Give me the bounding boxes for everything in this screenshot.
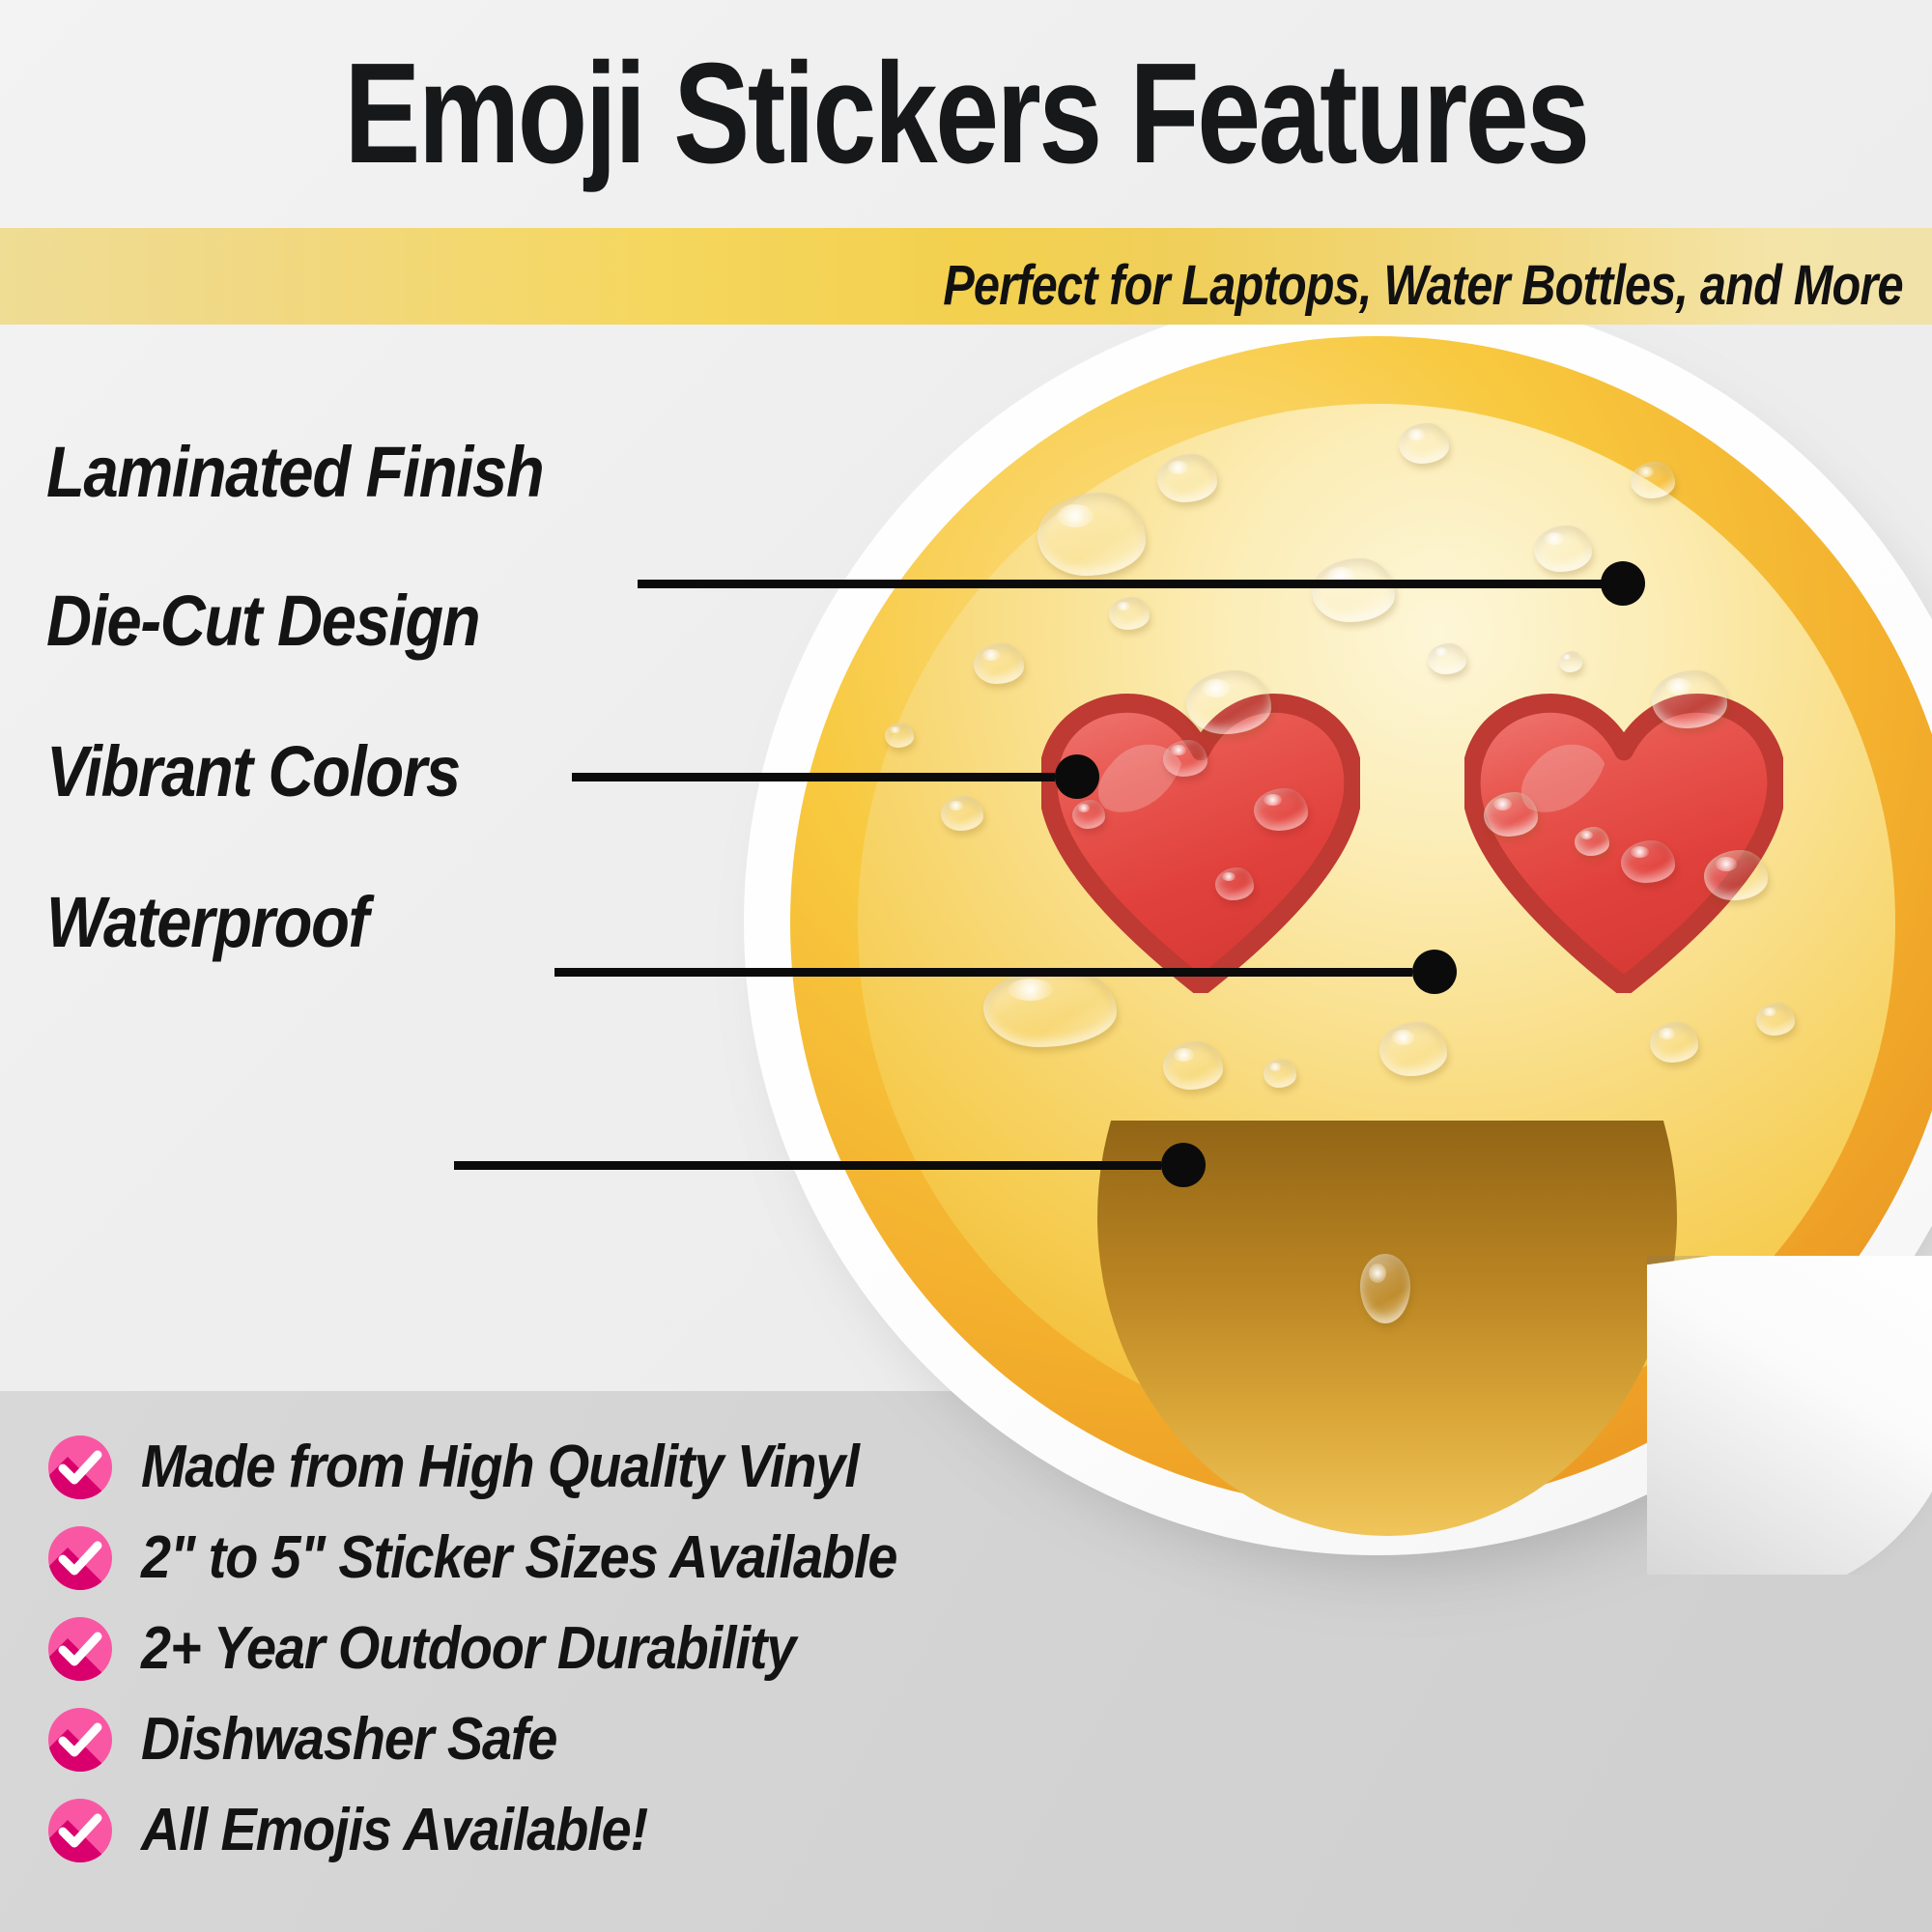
water-droplet [1559,651,1582,672]
water-droplet [1072,800,1105,829]
check-circle-icon [48,1708,112,1772]
water-droplet [885,723,914,748]
water-droplet [1650,1022,1698,1063]
water-droplet [1652,670,1727,728]
emoji-smiling-mouth [1097,1121,1677,1536]
water-droplet [1215,867,1254,900]
water-droplet [1312,558,1395,622]
list-item-label: Made from High Quality Vinyl [141,1437,859,1497]
water-droplet [1157,454,1217,502]
check-circle-icon [48,1799,112,1862]
list-item-label: All Emojis Available! [141,1801,647,1861]
page-title: Emoji Stickers Features [193,43,1739,185]
heart-eye-left-icon [1041,694,1360,993]
water-droplet [1109,597,1150,630]
page-subtitle: Perfect for Laptops, Water Bottles, and … [309,253,1932,318]
water-droplet [1399,423,1449,464]
mouth-fill [1097,1121,1677,1536]
water-droplet [1186,670,1271,734]
water-droplet [1756,1003,1795,1036]
water-droplet [941,796,983,831]
list-item: 2" to 5" Sticker Sizes Available [48,1513,1111,1604]
check-circle-icon [48,1526,112,1590]
list-item-label: Dishwasher Safe [141,1710,556,1770]
water-droplet [1534,526,1592,572]
water-droplet [1379,1022,1447,1076]
list-item-label: 2" to 5" Sticker Sizes Available [141,1528,896,1588]
check-circle-icon [48,1617,112,1681]
list-item-label: 2+ Year Outdoor Durability [141,1619,795,1679]
infographic-page: Emoji Stickers Features Perfect for Lapt… [0,0,1932,1932]
water-droplet [1704,850,1768,900]
features-checklist: Made from High Quality Vinyl 2" to 5" St… [48,1422,1111,1876]
water-droplet [1254,788,1308,831]
water-droplet [1428,643,1466,674]
heart-eye-right-icon [1464,694,1783,993]
water-droplet [1621,840,1675,883]
water-droplet [1163,1041,1223,1090]
list-item: 2+ Year Outdoor Durability [48,1604,1111,1694]
water-droplet [983,968,1117,1047]
check-circle-icon [48,1435,112,1499]
water-droplet [974,643,1024,684]
water-droplet [1484,792,1538,837]
water-droplet [1264,1059,1296,1088]
water-droplet [1631,462,1675,498]
list-item: Dishwasher Safe [48,1694,1111,1785]
water-droplet [1163,740,1207,777]
emoji-face-inner [858,404,1895,1441]
list-item: Made from High Quality Vinyl [48,1422,1111,1513]
water-droplet [1575,827,1609,856]
list-item: All Emojis Available! [48,1785,1111,1876]
